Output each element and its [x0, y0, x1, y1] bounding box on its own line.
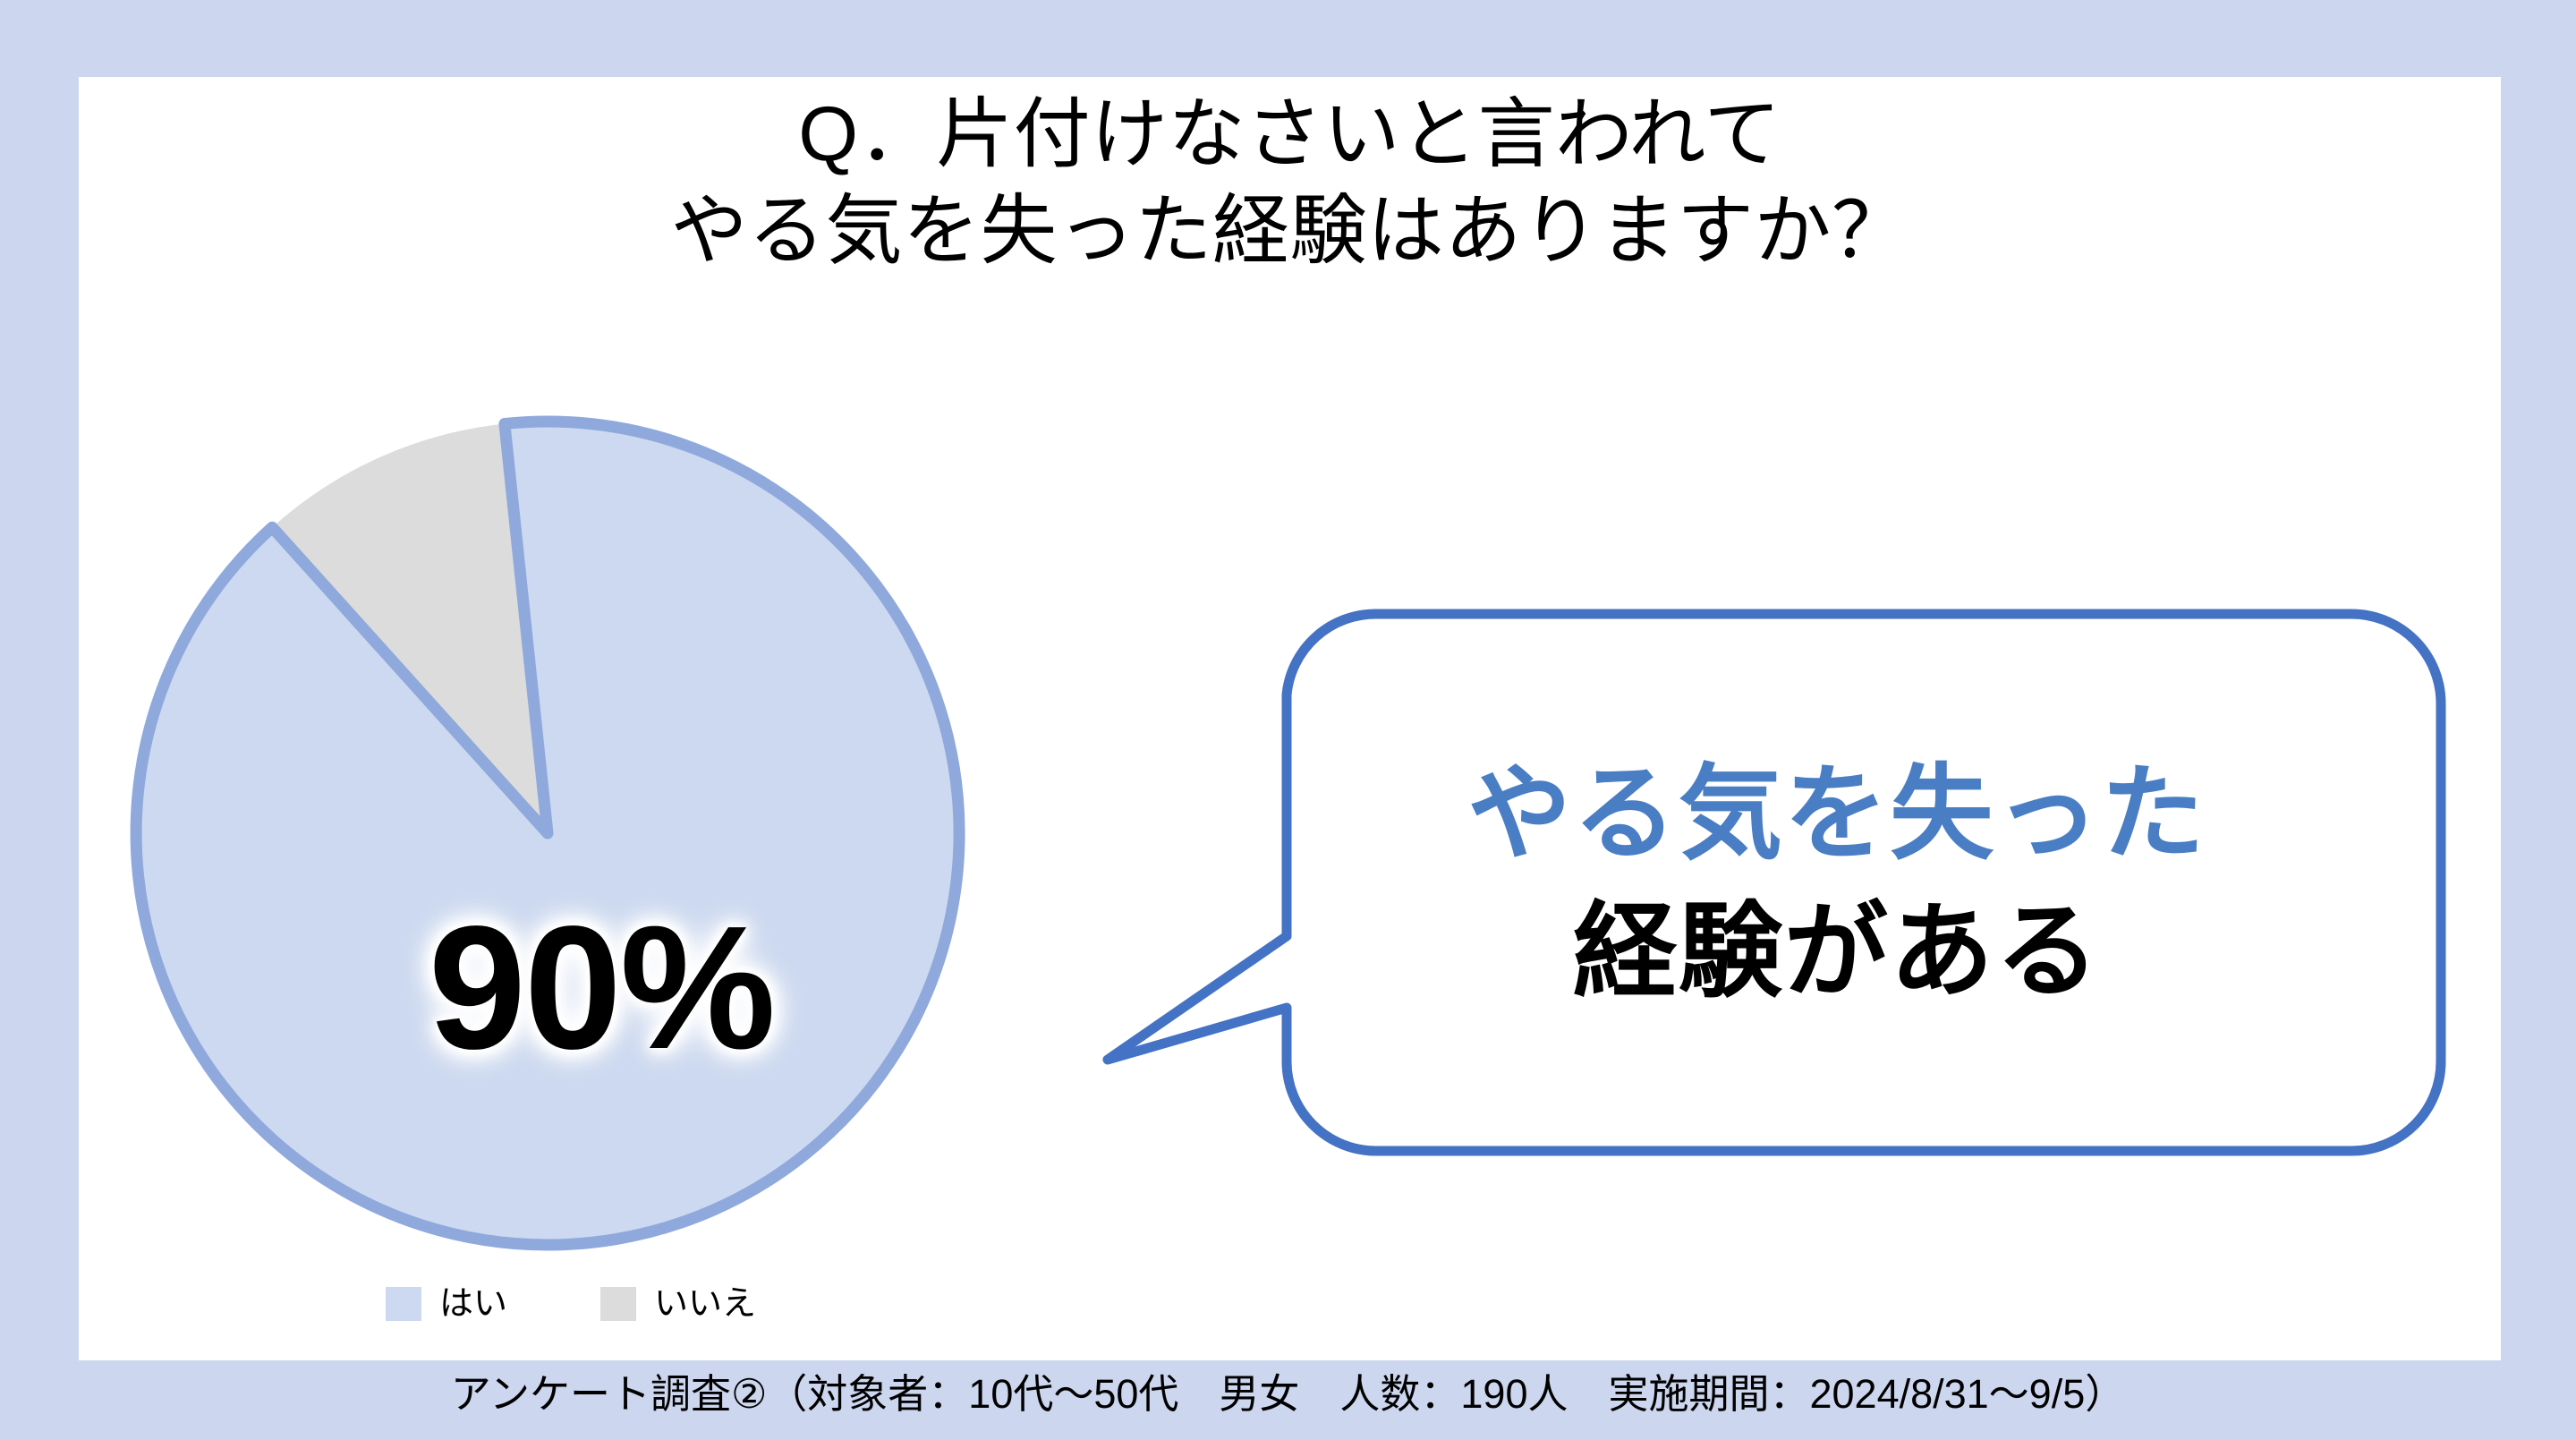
- legend-item-yes: はい: [386, 1287, 507, 1321]
- slide-card: Q．片付けなさいと言われて やる気を失った経験はありますか？ 90% はい いい…: [79, 77, 2501, 1360]
- chart-legend: はい いいえ: [213, 1287, 929, 1321]
- callout-bubble: [1099, 605, 2450, 1160]
- survey-footnote: アンケート調査②（対象者：10代〜50代 男女 人数：190人 実施期間：202…: [0, 1372, 2576, 1417]
- question-line-1: Q．片付けなさいと言われて: [79, 86, 2501, 183]
- pie-slice-yes: [136, 422, 959, 1245]
- pie-chart: [127, 413, 968, 1254]
- callout-bubble-svg: [1099, 605, 2450, 1160]
- legend-item-no: いいえ: [600, 1287, 756, 1321]
- legend-swatch-no: [600, 1287, 636, 1321]
- legend-label-yes: はい: [439, 1287, 507, 1321]
- legend-label-no: いいえ: [654, 1287, 756, 1321]
- pie-chart-svg: [127, 413, 968, 1254]
- page-title: Q．片付けなさいと言われて やる気を失った経験はありますか？: [79, 86, 2501, 280]
- question-line-2: やる気を失った経験はありますか？: [79, 183, 2501, 279]
- legend-swatch-yes: [386, 1287, 421, 1321]
- callout-bubble-outline: [1108, 614, 2441, 1151]
